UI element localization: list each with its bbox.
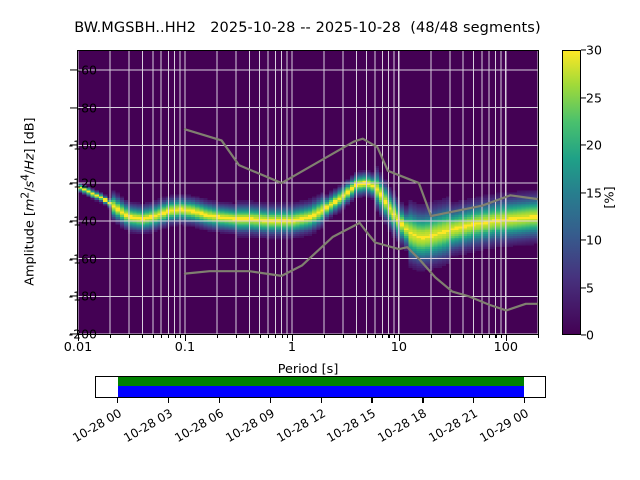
- x-axis-tick-label: 0.01: [64, 340, 93, 355]
- timeline-date-label: 10-28 12: [267, 406, 328, 449]
- timeline-date-label: 10-28 09: [216, 406, 277, 449]
- y-axis-tick-mark: [70, 333, 77, 334]
- x-axis-minor-tick-mark: [180, 335, 181, 338]
- x-axis-minor-tick-mark: [236, 335, 237, 338]
- timeline-tick-mark: [371, 398, 372, 403]
- x-axis-minor-tick-mark: [217, 335, 218, 338]
- x-axis-minor-tick-mark: [129, 335, 130, 338]
- y-axis-label: Amplitude [m2/s4/Hz] [dB]: [18, 52, 37, 352]
- timeline-strip[interactable]: [95, 376, 546, 398]
- y-axis-tick-mark: [70, 69, 77, 70]
- timeline-date-label: 10-28 00: [63, 406, 124, 449]
- y-axis-tick-label: -80: [37, 100, 97, 115]
- x-axis-label: Period [s]: [77, 362, 539, 377]
- timeline-tick-mark: [321, 398, 322, 403]
- y-axis-tick-label: -160: [37, 251, 97, 266]
- y-axis-tick-mark: [70, 258, 77, 259]
- x-axis-tick-label: 10: [391, 340, 407, 355]
- x-axis-tick-mark: [292, 335, 293, 341]
- colorbar-tick-mark: [581, 97, 586, 98]
- timeline-date-label: 10-28 06: [165, 406, 226, 449]
- colorbar-tick-mark: [581, 287, 586, 288]
- colorbar-tick-label: 5: [586, 280, 594, 295]
- x-axis-minor-tick-mark: [463, 335, 464, 338]
- colorbar-tick-label: 30: [586, 43, 602, 58]
- x-axis-minor-tick-mark: [489, 335, 490, 338]
- x-axis-minor-tick-mark: [382, 335, 383, 338]
- x-axis-minor-tick-mark: [324, 335, 325, 338]
- colorbar-tick-mark: [581, 239, 586, 240]
- colorbar-tick-label: 20: [586, 138, 602, 153]
- timeline-date-label: 10-28 03: [114, 406, 175, 449]
- timeline-date-label: 10-28 18: [369, 406, 430, 449]
- x-axis-tick-label: 0.1: [175, 340, 195, 355]
- x-axis-minor-tick-mark: [142, 335, 143, 338]
- timeline-date-label: 10-29 00: [470, 406, 531, 449]
- colorbar-label: [%]: [603, 168, 618, 228]
- ppsd-canvas: [78, 51, 538, 334]
- x-axis-minor-tick-mark: [260, 335, 261, 338]
- x-axis-minor-tick-mark: [343, 335, 344, 338]
- colorbar-tick-mark: [581, 49, 586, 50]
- timeline-tick-mark: [117, 398, 118, 403]
- timeline-tick-mark: [219, 398, 220, 403]
- x-axis-minor-tick-mark: [501, 335, 502, 338]
- x-axis-tick-mark: [78, 335, 79, 341]
- x-axis-tick-mark: [506, 335, 507, 341]
- colorbar-tick-mark: [581, 192, 586, 193]
- x-axis-minor-tick-mark: [450, 335, 451, 338]
- x-axis-minor-tick-mark: [495, 335, 496, 338]
- x-axis-minor-tick-mark: [287, 335, 288, 338]
- x-axis-minor-tick-mark: [161, 335, 162, 338]
- colorbar-tick-label: 25: [586, 90, 602, 105]
- colorbar-tick-label: 0: [586, 328, 594, 343]
- y-axis-tick-mark: [70, 107, 77, 108]
- timeline-coverage-green: [118, 377, 524, 386]
- y-axis-tick-mark: [70, 145, 77, 146]
- y-axis-tick-mark: [70, 220, 77, 221]
- timeline-tick-mark: [473, 398, 474, 403]
- timeline-tick-mark: [422, 398, 423, 403]
- y-axis-tick-label: -120: [37, 176, 97, 191]
- x-axis-minor-tick-mark: [388, 335, 389, 338]
- y-axis-tick-label: -60: [37, 62, 97, 77]
- x-axis-minor-tick-mark: [394, 335, 395, 338]
- colorbar-tick-label: 10: [586, 233, 602, 248]
- x-axis-minor-tick-mark: [474, 335, 475, 338]
- ppsd-plot-area[interactable]: [77, 50, 539, 335]
- x-axis-minor-tick-mark: [275, 335, 276, 338]
- colorbar: [562, 50, 581, 335]
- ppsd-figure: BW.MGSBH..HH2 2025-10-28 -- 2025-10-28 (…: [0, 0, 640, 480]
- x-axis-minor-tick-mark: [375, 335, 376, 338]
- x-axis-minor-tick-mark: [367, 335, 368, 338]
- x-axis-minor-tick-mark: [431, 335, 432, 338]
- timeline-date-label: 10-28 21: [419, 406, 480, 449]
- y-axis-tick-label: -140: [37, 213, 97, 228]
- colorbar-tick-label: 15: [586, 185, 602, 200]
- timeline-tick-mark: [168, 398, 169, 403]
- x-axis-minor-tick-mark: [153, 335, 154, 338]
- y-axis-tick-label: -100: [37, 138, 97, 153]
- timeline-segments-blue: [118, 386, 524, 397]
- colorbar-tick-mark: [581, 144, 586, 145]
- y-axis-tick-label: -180: [37, 289, 97, 304]
- x-axis-tick-label: 1: [288, 340, 296, 355]
- timeline-tick-mark: [524, 398, 525, 403]
- page-title: BW.MGSBH..HH2 2025-10-28 -- 2025-10-28 (…: [0, 20, 615, 36]
- x-axis-minor-tick-mark: [356, 335, 357, 338]
- x-axis-tick-mark: [399, 335, 400, 341]
- y-axis-tick-mark: [70, 296, 77, 297]
- colorbar-tick-mark: [581, 334, 586, 335]
- x-axis-minor-tick-mark: [268, 335, 269, 338]
- timeline-date-label: 10-28 15: [318, 406, 379, 449]
- timeline-tick-mark: [270, 398, 271, 403]
- x-axis-minor-tick-mark: [482, 335, 483, 338]
- x-axis-minor-tick-mark: [110, 335, 111, 338]
- x-axis-minor-tick-mark: [538, 335, 539, 338]
- x-axis-minor-tick-mark: [175, 335, 176, 338]
- x-axis-tick-label: 100: [494, 340, 518, 355]
- x-axis-tick-mark: [185, 335, 186, 341]
- x-axis-minor-tick-mark: [282, 335, 283, 338]
- x-axis-minor-tick-mark: [249, 335, 250, 338]
- y-axis-tick-mark: [70, 183, 77, 184]
- x-axis-minor-tick-mark: [168, 335, 169, 338]
